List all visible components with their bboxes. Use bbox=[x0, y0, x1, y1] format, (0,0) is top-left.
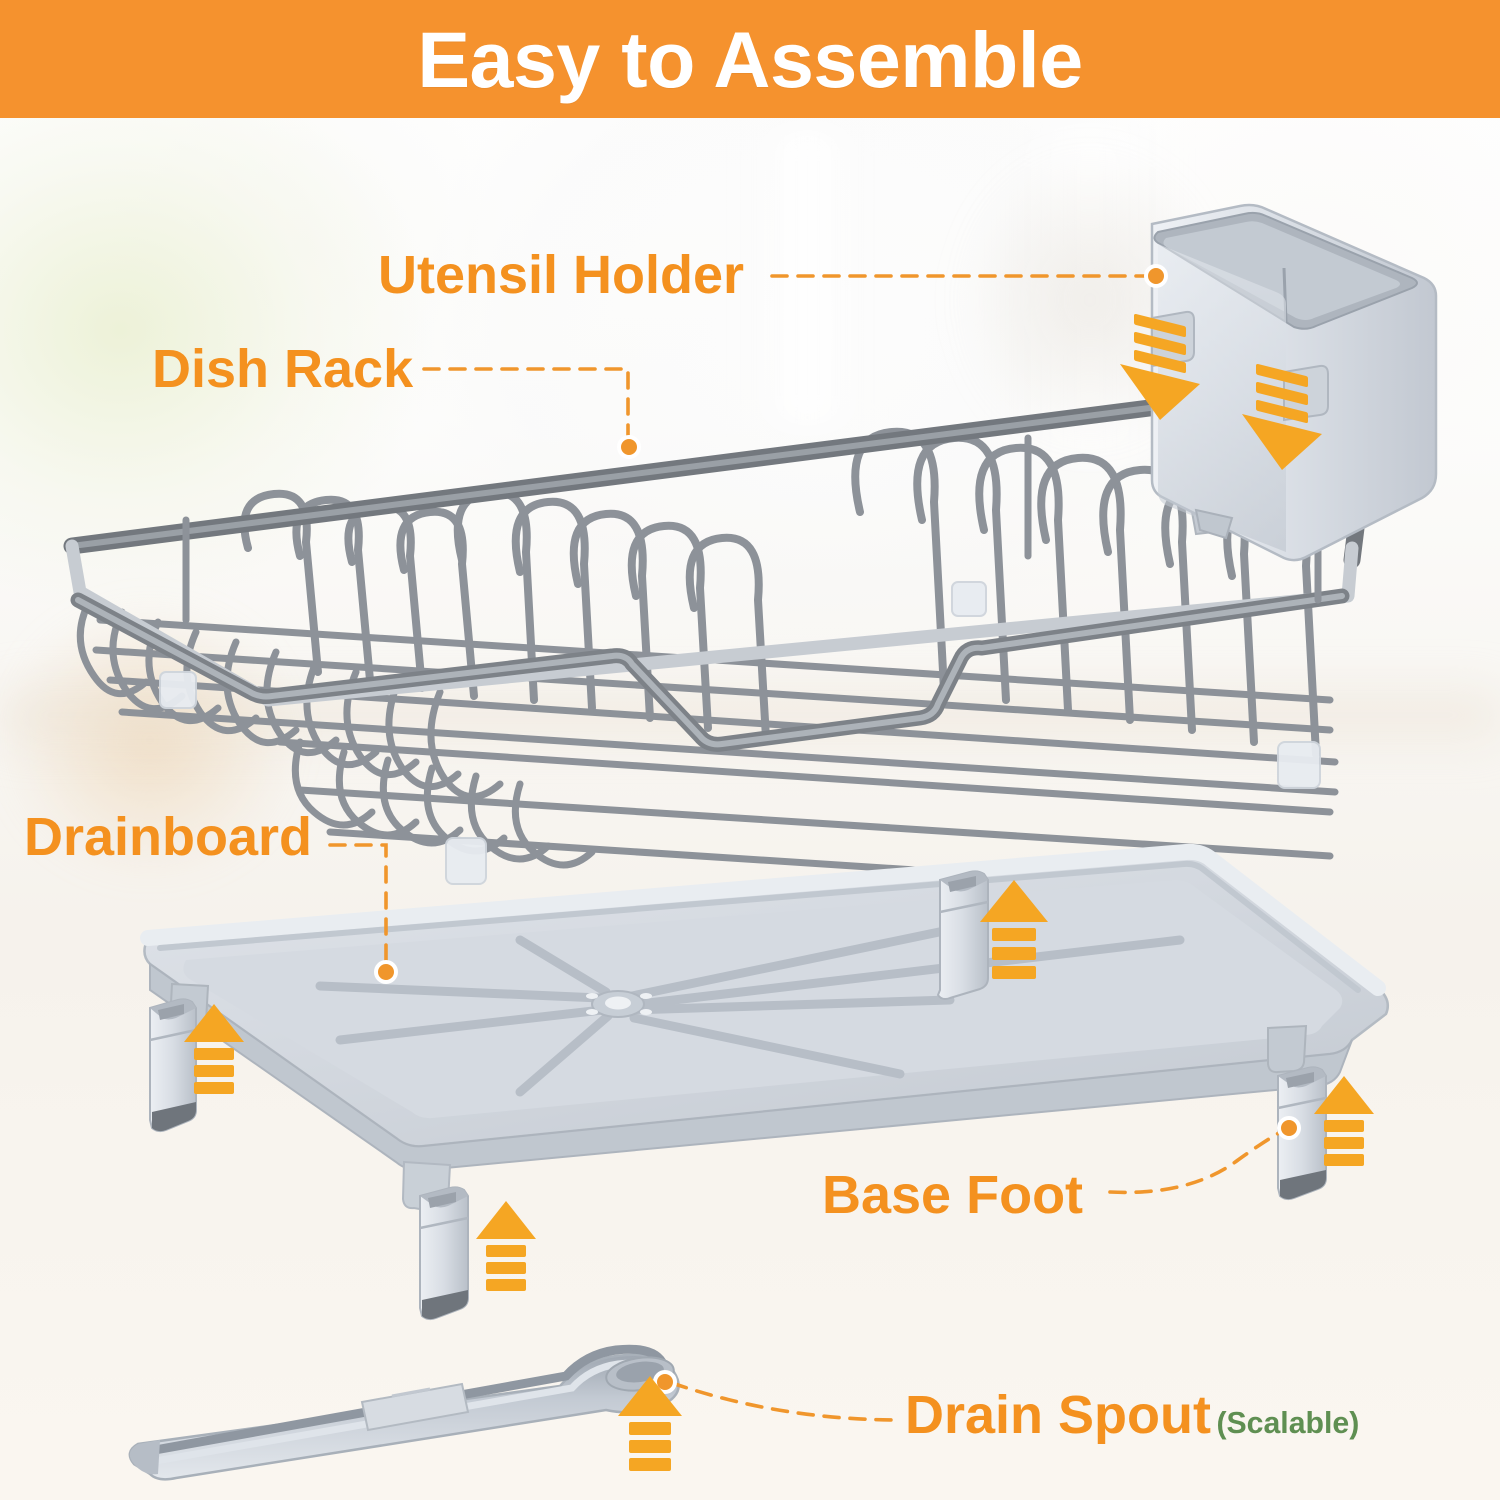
callout-label-drainboard: Drainboard bbox=[24, 810, 312, 864]
callout-text-utensil-holder: Utensil Holder bbox=[378, 245, 744, 305]
callout-label-drain-spout: Drain Spout(Scalable) bbox=[905, 1388, 1359, 1442]
callout-label-base-foot: Base Foot bbox=[822, 1168, 1083, 1222]
background-counter-edge bbox=[0, 680, 1500, 750]
infographic-canvas: Easy to Assemble Utensil Holder Dish Rac… bbox=[0, 0, 1500, 1500]
callout-text-drain-spout: Drain Spout bbox=[905, 1385, 1211, 1445]
callout-text-drain-spout-note: (Scalable) bbox=[1216, 1407, 1359, 1440]
header-banner: Easy to Assemble bbox=[0, 0, 1500, 118]
callout-text-base-foot: Base Foot bbox=[822, 1165, 1083, 1225]
callout-text-dish-rack: Dish Rack bbox=[152, 339, 413, 399]
callout-label-utensil-holder: Utensil Holder bbox=[378, 248, 744, 302]
page-title: Easy to Assemble bbox=[417, 20, 1082, 99]
background-warm-glow-right bbox=[960, 150, 1220, 450]
background-kitchen-blur bbox=[0, 0, 1500, 1500]
callout-label-dish-rack: Dish Rack bbox=[152, 342, 413, 396]
callout-text-drainboard: Drainboard bbox=[24, 807, 312, 867]
background-window-left bbox=[745, 128, 870, 428]
